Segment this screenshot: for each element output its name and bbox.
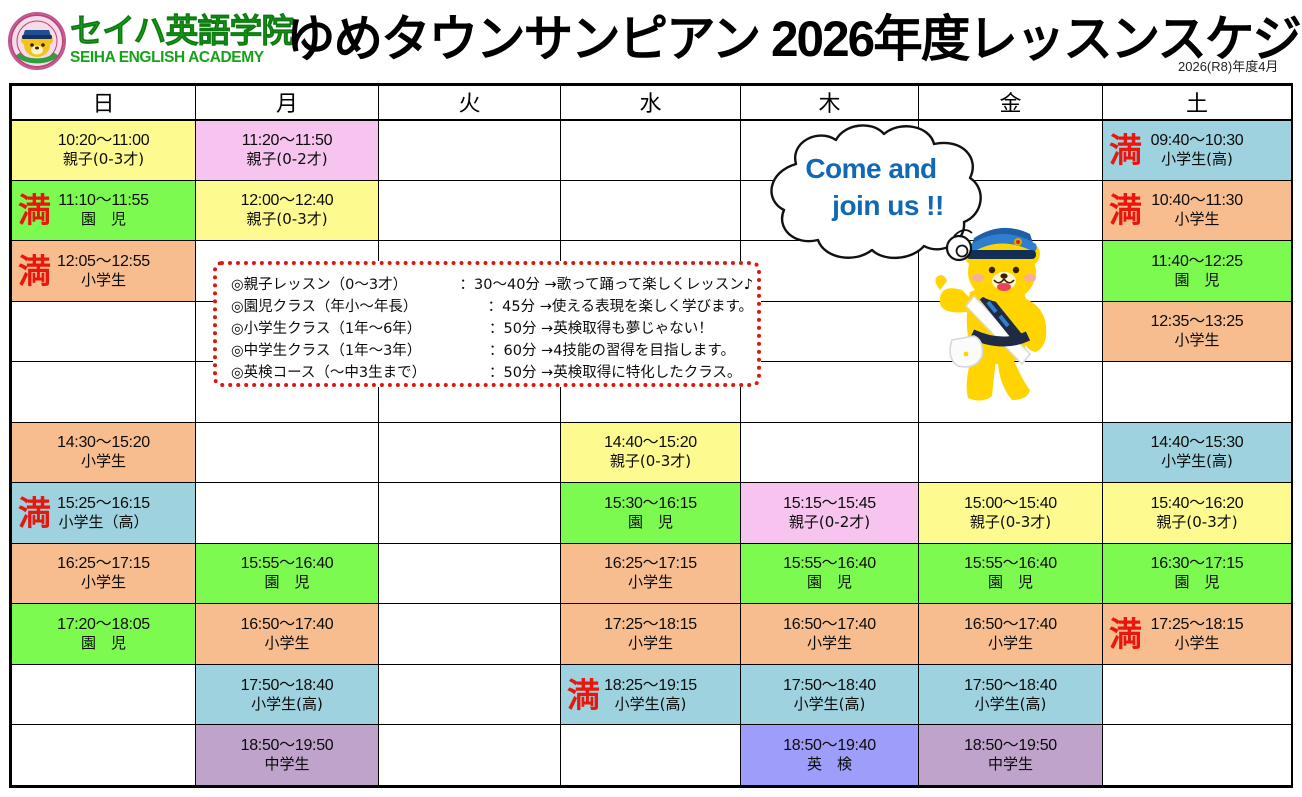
seiha-bear-logo-icon — [8, 12, 66, 70]
schedule-cell[interactable]: 18:50〜19:40英 検 — [741, 725, 919, 786]
lesson-class: 親子(0-3才) — [970, 513, 1051, 532]
cell-content: 15:30〜16:15園 児 — [561, 483, 740, 543]
col-header-sun: 日 — [12, 86, 196, 120]
cell-content — [379, 181, 560, 241]
cell-content — [741, 362, 918, 422]
schedule-cell[interactable]: 15:30〜16:15園 児 — [561, 483, 741, 544]
schedule-cell[interactable]: 18:50〜19:50中学生 — [919, 725, 1103, 786]
speech-bubble: Come and join us !! — [748, 118, 1004, 268]
lesson-class: 園 児 — [264, 573, 309, 592]
lesson-class: 園 児 — [1174, 271, 1219, 290]
schedule-cell-empty — [561, 180, 741, 241]
cell-content: 16:30〜17:15園 児 — [1103, 544, 1291, 604]
cell-content: 17:50〜18:40小学生(高) — [919, 665, 1102, 725]
lesson-time: 11:40〜12:25 — [1151, 252, 1243, 271]
cell-content — [196, 423, 378, 483]
brand-block: セイハ英語学院 SEIHA ENGLISH ACADEMY — [70, 14, 288, 67]
poster-header: セイハ英語学院 SEIHA ENGLISH ACADEMY ゆめタウンサンピアン… — [0, 0, 1302, 82]
lesson-time: 12:35〜13:25 — [1151, 312, 1244, 331]
cell-content — [919, 423, 1102, 483]
info-line: ◎中学生クラス（1年～3年）：60分 →4技能の習得を目指します。 — [231, 340, 753, 362]
schedule-cell-empty — [196, 422, 379, 483]
lesson-time: 12:05〜12:55 — [57, 252, 150, 271]
schedule-cell-empty — [741, 362, 919, 423]
lesson-class: 小学生 — [81, 573, 126, 592]
lesson-time: 15:00〜15:40 — [964, 494, 1057, 513]
lesson-time: 12:00〜12:40 — [241, 191, 334, 210]
info-line: ◎小学生クラス（1年～6年）：50分 →英検取得も夢じゃない！ — [231, 318, 753, 340]
lesson-class: 親子(0-2才) — [789, 513, 870, 532]
cell-content — [12, 302, 195, 362]
schedule-cell-empty — [561, 725, 741, 786]
table-row: 14:30〜15:20小学生14:40〜15:20親子(0-3才)14:40〜1… — [12, 422, 1292, 483]
table-row: 満11:10〜11:55園 児12:00〜12:40親子(0-3才)満10:40… — [12, 180, 1292, 241]
lesson-class: 園 児 — [807, 573, 852, 592]
table-row: 10:20〜11:00親子(0-3才)11:20〜11:50親子(0-2才)満0… — [12, 120, 1292, 181]
lesson-class: 小学生 — [1174, 634, 1219, 653]
cell-content: 17:25〜18:15小学生 — [1103, 604, 1291, 664]
schedule-cell[interactable]: 14:40〜15:20親子(0-3才) — [561, 422, 741, 483]
schedule-cell-empty — [12, 301, 196, 362]
cell-content: 18:50〜19:40英 検 — [741, 725, 918, 785]
lesson-class: 小学生 — [1174, 331, 1219, 350]
table-row: 17:20〜18:05園 児16:50〜17:40小学生17:25〜18:15小… — [12, 604, 1292, 665]
schedule-cell[interactable]: 16:30〜17:15園 児 — [1103, 543, 1292, 604]
schedule-cell-empty — [379, 664, 561, 725]
schedule-cell-empty — [12, 664, 196, 725]
cell-content: 18:50〜19:50中学生 — [196, 725, 378, 785]
lesson-class: 園 児 — [628, 513, 673, 532]
col-header-wed: 水 — [561, 86, 741, 120]
cell-content: 15:00〜15:40親子(0-3才) — [919, 483, 1102, 543]
schedule-cell-empty — [919, 422, 1103, 483]
schedule-cell[interactable]: 16:25〜17:15小学生 — [561, 543, 741, 604]
lesson-class: 園 児 — [81, 634, 126, 653]
schedule-cell[interactable]: 18:50〜19:50中学生 — [196, 725, 379, 786]
info-line-label: ◎小学生クラス（1年～6年） — [231, 318, 489, 340]
info-line-label: ◎中学生クラス（1年～3年） — [231, 340, 489, 362]
lesson-class: 親子(0-3才) — [246, 210, 327, 229]
lesson-class: 小学生 — [264, 634, 309, 653]
schedule-cell[interactable]: 11:20〜11:50親子(0-2才) — [196, 120, 379, 181]
cell-content: 17:20〜18:05園 児 — [12, 604, 195, 664]
lesson-class: 小学生(高) — [794, 695, 866, 714]
cell-content — [379, 483, 560, 543]
lesson-class: 小学生 — [81, 452, 126, 471]
cell-content: 10:20〜11:00親子(0-3才) — [12, 121, 195, 180]
lesson-class: 園 児 — [1174, 573, 1219, 592]
schedule-cell[interactable]: 11:40〜12:25園 児 — [1103, 241, 1292, 302]
lesson-class: 小学生(高) — [1161, 452, 1233, 471]
cell-content: 11:40〜12:25園 児 — [1103, 241, 1291, 301]
lesson-class: 英 検 — [807, 755, 852, 774]
schedule-grid: 日 月 火 水 木 金 土 10:20〜11:00親子(0-3才)11:20〜1… — [9, 83, 1293, 788]
schedule-table: 日 月 火 水 木 金 土 10:20〜11:00親子(0-3才)11:20〜1… — [11, 85, 1292, 786]
cell-content: 15:55〜16:40園 児 — [741, 544, 918, 604]
cell-content: 17:50〜18:40小学生(高) — [741, 665, 918, 725]
schedule-cell[interactable]: 15:55〜16:40園 児 — [196, 543, 379, 604]
col-header-tue: 火 — [379, 86, 561, 120]
schedule-cell-empty — [1103, 664, 1292, 725]
lesson-class: 小学生 — [81, 271, 126, 290]
lesson-class: 小学生 — [988, 634, 1033, 653]
cell-content: 16:25〜17:15小学生 — [561, 544, 740, 604]
info-line: ◎親子レッスン（0～3才）：30～40分 →歌って踊って楽しくレッスン♪ — [231, 274, 753, 296]
schedule-cell-empty — [741, 301, 919, 362]
cell-content: 11:10〜11:55園 児 — [12, 181, 195, 241]
schedule-cell-empty — [379, 604, 561, 665]
schedule-cell[interactable]: 12:00〜12:40親子(0-3才) — [196, 180, 379, 241]
lesson-class: 小学生 — [628, 634, 673, 653]
schedule-cell-empty — [379, 543, 561, 604]
schedule-cell-empty — [741, 422, 919, 483]
table-row: 18:50〜19:50中学生18:50〜19:40英 検18:50〜19:50中… — [12, 725, 1292, 786]
lesson-time: 16:25〜17:15 — [604, 554, 697, 573]
cell-content: 10:40〜11:30小学生 — [1103, 181, 1291, 241]
lesson-time: 16:50〜17:40 — [964, 615, 1057, 634]
schedule-cell[interactable]: 12:35〜13:25小学生 — [1103, 301, 1292, 362]
schedule-cell[interactable]: 17:25〜18:15小学生 — [561, 604, 741, 665]
lesson-time: 10:20〜11:00 — [58, 131, 150, 150]
info-line: ◎英検コース（～中3生まで）：50分 →英検取得に特化したクラス。 — [231, 362, 753, 384]
cell-content — [196, 483, 378, 543]
schedule-cell[interactable]: 17:20〜18:05園 児 — [12, 604, 196, 665]
lesson-time: 16:30〜17:15 — [1151, 554, 1244, 573]
schedule-cell[interactable]: 満10:40〜11:30小学生 — [1103, 180, 1292, 241]
cell-content: 12:00〜12:40親子(0-3才) — [196, 181, 378, 241]
lesson-time: 16:50〜17:40 — [241, 615, 334, 634]
cell-content — [12, 665, 195, 725]
schedule-poster: セイハ英語学院 SEIHA ENGLISH ACADEMY ゆめタウンサンピアン… — [0, 0, 1302, 797]
lesson-time: 17:50〜18:40 — [964, 676, 1057, 695]
title-note: 2026(R8)年度4月 — [1178, 56, 1278, 75]
lesson-class: 親子(0-3才) — [610, 452, 691, 471]
schedule-cell-empty — [379, 120, 561, 181]
cell-content — [561, 181, 740, 241]
lesson-class: 小学生（高） — [58, 513, 148, 532]
lesson-time: 14:40〜15:20 — [604, 433, 697, 452]
table-row: 16:25〜17:15小学生15:55〜16:40園 児16:25〜17:15小… — [12, 543, 1292, 604]
cell-content: 15:40〜16:20親子(0-3才) — [1103, 483, 1291, 543]
cell-content — [1103, 665, 1291, 725]
lesson-time: 18:50〜19:50 — [964, 736, 1057, 755]
cell-content: 14:40〜15:20親子(0-3才) — [561, 423, 740, 483]
cell-content: 16:50〜17:40小学生 — [196, 604, 378, 664]
info-line: ◎園児クラス（年小～年長）：45分 →使える表現を楽しく学びます。 — [231, 296, 753, 318]
info-line-label: ◎園児クラス（年小～年長） — [231, 296, 488, 318]
cell-content: 14:30〜15:20小学生 — [12, 423, 195, 483]
lesson-time: 17:25〜18:15 — [1151, 615, 1244, 634]
schedule-cell-empty — [379, 422, 561, 483]
col-header-mon: 月 — [196, 86, 379, 120]
info-line-detail: ：50分 →英検取得も夢じゃない！ — [489, 318, 713, 340]
lesson-class: 中学生 — [264, 755, 309, 774]
col-header-fri: 金 — [919, 86, 1103, 120]
schedule-cell-empty — [196, 483, 379, 544]
lesson-class: 小学生 — [628, 573, 673, 592]
lesson-time: 17:25〜18:15 — [604, 615, 697, 634]
cell-content: 15:55〜16:40園 児 — [196, 544, 378, 604]
brand-name-ja: セイハ英語学院 — [70, 14, 288, 48]
schedule-cell-empty — [1103, 362, 1292, 423]
cell-content — [1103, 362, 1291, 422]
lesson-class: 小学生 — [1174, 210, 1219, 229]
lesson-time: 15:55〜16:40 — [241, 554, 334, 573]
cell-content — [379, 121, 560, 180]
schedule-cell[interactable]: 17:50〜18:40小学生(高) — [741, 664, 919, 725]
schedule-cell[interactable]: 満17:25〜18:15小学生 — [1103, 604, 1292, 665]
schedule-cell[interactable]: 14:40〜15:30小学生(高) — [1103, 422, 1292, 483]
lesson-class: 小学生(高) — [1161, 150, 1233, 169]
schedule-cell[interactable]: 10:20〜11:00親子(0-3才) — [12, 120, 196, 181]
cell-content — [12, 725, 195, 785]
schedule-cell[interactable]: 満15:25〜16:15小学生（高） — [12, 483, 196, 544]
schedule-cell[interactable]: 17:50〜18:40小学生(高) — [919, 664, 1103, 725]
cell-content: 12:35〜13:25小学生 — [1103, 302, 1291, 362]
cell-content: 18:25〜19:15小学生(高) — [561, 665, 740, 725]
schedule-cell[interactable]: 満18:25〜19:15小学生(高) — [561, 664, 741, 725]
lesson-class: 小学生 — [807, 634, 852, 653]
lesson-time: 18:50〜19:40 — [783, 736, 876, 755]
col-header-sat: 土 — [1103, 86, 1292, 120]
lesson-class: 園 児 — [988, 573, 1033, 592]
table-row: 17:50〜18:40小学生(高)満18:25〜19:15小学生(高)17:50… — [12, 664, 1292, 725]
schedule-cell[interactable]: 16:50〜17:40小学生 — [919, 604, 1103, 665]
cell-content — [379, 604, 560, 664]
schedule-body: 10:20〜11:00親子(0-3才)11:20〜11:50親子(0-2才)満0… — [12, 120, 1292, 786]
cell-content: 11:20〜11:50親子(0-2才) — [196, 121, 378, 180]
lesson-time: 15:25〜16:15 — [57, 494, 150, 513]
lesson-class: 園 児 — [81, 210, 126, 229]
schedule-cell[interactable]: 15:55〜16:40園 児 — [919, 543, 1103, 604]
lesson-time: 18:25〜19:15 — [604, 676, 697, 695]
cell-content: 15:15〜15:45親子(0-2才) — [741, 483, 918, 543]
schedule-cell-empty — [12, 362, 196, 423]
lesson-time: 16:50〜17:40 — [783, 615, 876, 634]
schedule-cell[interactable]: 17:50〜18:40小学生(高) — [196, 664, 379, 725]
info-line-label: ◎親子レッスン（0～3才） — [231, 274, 460, 296]
col-header-thu: 木 — [741, 86, 919, 120]
schedule-cell[interactable]: 15:00〜15:40親子(0-3才) — [919, 483, 1103, 544]
cell-content — [561, 121, 740, 180]
cell-content — [379, 544, 560, 604]
schedule-cell[interactable]: 16:50〜17:40小学生 — [741, 604, 919, 665]
lesson-time: 10:40〜11:30 — [1151, 191, 1243, 210]
schedule-cell[interactable]: 16:25〜17:15小学生 — [12, 543, 196, 604]
info-line-detail: ：60分 →4技能の習得を目指します。 — [489, 340, 735, 362]
schedule-cell[interactable]: 15:55〜16:40園 児 — [741, 543, 919, 604]
cell-content — [379, 665, 560, 725]
table-row: 満15:25〜16:15小学生（高）15:30〜16:15園 児15:15〜15… — [12, 483, 1292, 544]
lesson-class: 親子(0-3才) — [63, 150, 144, 169]
schedule-cell[interactable]: 14:30〜15:20小学生 — [12, 422, 196, 483]
schedule-cell[interactable]: 15:40〜16:20親子(0-3才) — [1103, 483, 1292, 544]
schedule-cell-empty — [12, 725, 196, 786]
schedule-cell-empty — [379, 180, 561, 241]
info-line-detail: ：45分 →使える表現を楽しく学びます。 — [488, 296, 753, 318]
schedule-cell[interactable]: 満09:40〜10:30小学生(高) — [1103, 120, 1292, 181]
schedule-cell[interactable]: 満11:10〜11:55園 児 — [12, 180, 196, 241]
lesson-class: 中学生 — [988, 755, 1033, 774]
lesson-time: 15:40〜16:20 — [1151, 494, 1244, 513]
lesson-time: 09:40〜10:30 — [1151, 131, 1244, 150]
cell-content: 14:40〜15:30小学生(高) — [1103, 423, 1291, 483]
lesson-time: 11:20〜11:50 — [242, 131, 332, 150]
cell-content — [741, 302, 918, 362]
lesson-time: 14:30〜15:20 — [57, 433, 150, 452]
info-line-label: ◎英検コース（～中3生まで） — [231, 362, 489, 384]
lesson-time: 17:50〜18:40 — [241, 676, 334, 695]
info-line-detail: ：50分 →英検取得に特化したクラス。 — [489, 362, 741, 384]
schedule-cell-empty — [379, 725, 561, 786]
lesson-time: 15:55〜16:40 — [783, 554, 876, 573]
cell-content: 09:40〜10:30小学生(高) — [1103, 121, 1291, 180]
cell-content — [561, 725, 740, 785]
cell-content: 16:50〜17:40小学生 — [741, 604, 918, 664]
lesson-time: 15:15〜15:45 — [783, 494, 876, 513]
schedule-cell-empty — [561, 120, 741, 181]
cell-content: 16:50〜17:40小学生 — [919, 604, 1102, 664]
cell-content: 17:50〜18:40小学生(高) — [196, 665, 378, 725]
cell-content: 18:50〜19:50中学生 — [919, 725, 1102, 785]
cell-content — [12, 362, 195, 422]
lesson-class: 親子(0-3才) — [1156, 513, 1237, 532]
cell-content: 15:55〜16:40園 児 — [919, 544, 1102, 604]
lesson-time: 17:20〜18:05 — [57, 615, 150, 634]
cell-content — [379, 725, 560, 785]
lesson-time: 16:25〜17:15 — [57, 554, 150, 573]
info-line-detail: ：30～40分 →歌って踊って楽しくレッスン♪ — [460, 274, 753, 296]
brand-name-en: SEIHA ENGLISH ACADEMY — [70, 49, 288, 67]
cell-content: 16:25〜17:15小学生 — [12, 544, 195, 604]
class-info-box: ◎親子レッスン（0～3才）：30～40分 →歌って踊って楽しくレッスン♪◎園児ク… — [213, 261, 761, 387]
cell-content: 17:25〜18:15小学生 — [561, 604, 740, 664]
cell-content: 15:25〜16:15小学生（高） — [12, 483, 195, 543]
cell-content — [741, 423, 918, 483]
schedule-cell[interactable]: 満12:05〜12:55小学生 — [12, 241, 196, 302]
lesson-class: 小学生(高) — [251, 695, 323, 714]
cell-content: 12:05〜12:55小学生 — [12, 241, 195, 301]
schedule-cell-empty — [1103, 725, 1292, 786]
lesson-time: 15:30〜16:15 — [604, 494, 697, 513]
cell-content — [1103, 725, 1291, 785]
table-header-row: 日 月 火 水 木 金 土 — [12, 86, 1292, 120]
cell-content — [379, 423, 560, 483]
schedule-cell[interactable]: 15:15〜15:45親子(0-2才) — [741, 483, 919, 544]
lesson-time: 17:50〜18:40 — [783, 676, 876, 695]
lesson-class: 小学生(高) — [615, 695, 687, 714]
lesson-class: 小学生(高) — [975, 695, 1047, 714]
schedule-cell[interactable]: 16:50〜17:40小学生 — [196, 604, 379, 665]
lesson-time: 15:55〜16:40 — [964, 554, 1057, 573]
lesson-time: 11:10〜11:55 — [58, 191, 148, 210]
schedule-cell-empty — [379, 483, 561, 544]
lesson-time: 18:50〜19:50 — [241, 736, 334, 755]
page-title: ゆめタウンサンピアン 2026年度レッスンスケジュール — [286, 6, 1302, 72]
lesson-class: 親子(0-2才) — [246, 150, 327, 169]
lesson-time: 14:40〜15:30 — [1151, 433, 1244, 452]
